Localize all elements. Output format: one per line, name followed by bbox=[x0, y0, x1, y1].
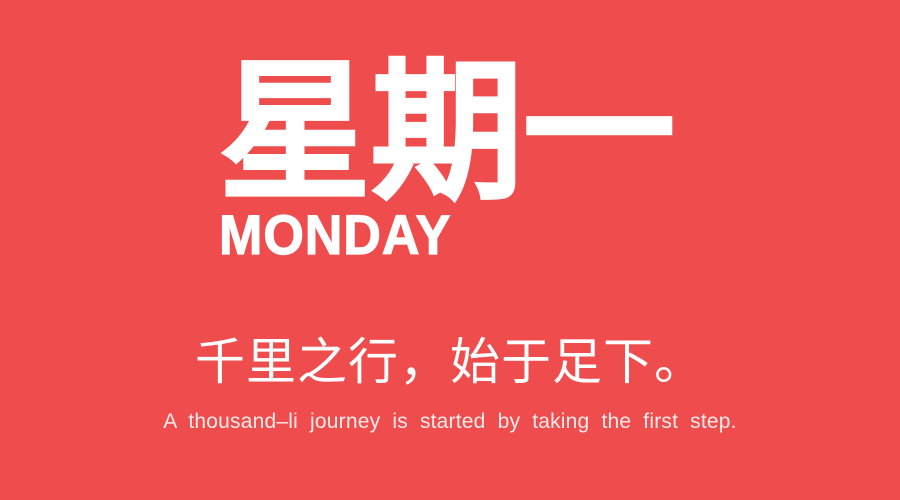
headline-block: 星期一 MONDAY bbox=[0, 52, 900, 263]
daily-greeting-card: 星期一 MONDAY 千里之行，始于足下。 A thousand–li jour… bbox=[0, 0, 900, 500]
day-name-chinese: 星期一 bbox=[219, 52, 675, 213]
headline-inner: 星期一 MONDAY bbox=[219, 52, 681, 263]
day-name-english: MONDAY bbox=[219, 207, 451, 263]
quote-block: 千里之行，始于足下。 A thousand–li journey is star… bbox=[0, 332, 900, 435]
quote-english: A thousand–li journey is started by taki… bbox=[163, 409, 736, 435]
quote-chinese: 千里之行，始于足下。 bbox=[195, 332, 705, 392]
